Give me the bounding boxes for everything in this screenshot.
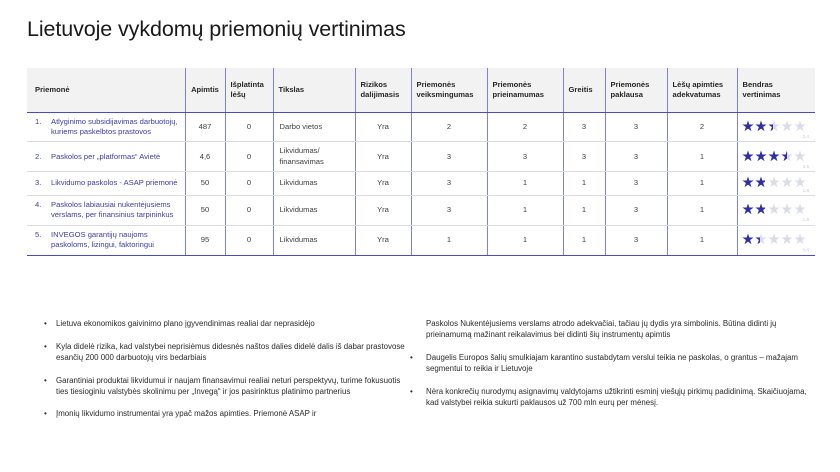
cell-veiksmingumas[interactable]: 1 — [411, 225, 487, 255]
cell-tikslas[interactable]: Likvidumas — [273, 195, 355, 225]
cell-paklausa[interactable]: 3 — [605, 195, 667, 225]
column-header[interactable]: Išplatinta lėšų — [225, 68, 273, 112]
slide-canvas: Lietuvoje vykdomų priemonių vertinimas P… — [0, 0, 840, 472]
bullet-item: •Kyla didelė rizika, kad valstybei nepri… — [38, 341, 410, 364]
cell-greitis[interactable]: 1 — [563, 172, 605, 196]
measure-index: 3. — [35, 178, 45, 188]
bullet-text: Daugelis Europos šalių smulkiajam karant… — [426, 352, 810, 375]
measure-name: Atlyginimo subsidijavimas darbuotojų, ku… — [51, 117, 181, 138]
cell-veiksmingumas[interactable]: 3 — [411, 195, 487, 225]
bullet-dot-icon: • — [38, 375, 56, 398]
cell-paklausa[interactable]: 3 — [605, 112, 667, 142]
bullet-item: •Paskolos Nukentėjusiems verslams atrodo… — [410, 318, 810, 341]
column-header[interactable]: Priemonės prieinamumas — [487, 68, 563, 112]
measure-name: Paskolos labiausiai nukentėjusiems versl… — [51, 200, 181, 221]
bullet-text: Garantiniai produktai likvidumui ir nauj… — [56, 375, 410, 398]
bullet-item: •Įmonių likvidumo instrumentai yra ypač … — [38, 408, 410, 420]
cell-adekvatumas[interactable]: 1 — [667, 225, 737, 255]
star-rating: ★★★★★★★★★★ — [742, 176, 807, 191]
star-rating-fill: ★★★★★ — [742, 150, 788, 165]
star-rating: ★★★★★★★★★★ — [742, 150, 807, 165]
bullet-item: •Nėra konkrečių nurodymų asignavimų vald… — [410, 386, 810, 409]
table-row[interactable]: 3.Likvidumo paskolos - ASAP priemonė500L… — [27, 172, 815, 196]
star-rating: ★★★★★★★★★★ — [742, 203, 807, 218]
table-row[interactable]: 4.Paskolos labiausiai nukentėjusiems ver… — [27, 195, 815, 225]
cell-veiksmingumas[interactable]: 3 — [411, 172, 487, 196]
cell-adekvatumas[interactable]: 2 — [667, 112, 737, 142]
bullet-dot-icon: • — [38, 341, 56, 364]
measure-name: Paskolos per „platformas“ Avietė — [51, 152, 160, 162]
star-rating-fill: ★★★★★ — [742, 120, 773, 135]
bullet-item: •Lietuva ekonomikos gaivinimo plano įgyv… — [38, 318, 410, 330]
cell-greitis[interactable]: 3 — [563, 142, 605, 172]
cell-isplatinta[interactable]: 0 — [225, 195, 273, 225]
cell-tikslas[interactable]: Likvidumas/ finansavimas — [273, 142, 355, 172]
column-header[interactable]: Lėšų apimties adekvatumas — [667, 68, 737, 112]
bullet-text: Įmonių likvidumo instrumentai yra ypač m… — [56, 408, 410, 420]
overall-rating-score: 1,8 — [803, 217, 809, 223]
cell-adekvatumas[interactable]: 1 — [667, 195, 737, 225]
overall-rating-cell[interactable]: ★★★★★★★★★★1,8 — [737, 172, 815, 196]
bullet-text: Nėra konkrečių nurodymų asignavimų valdy… — [426, 386, 810, 409]
overall-rating-score: 3,5 — [803, 164, 809, 170]
overall-rating-cell[interactable]: ★★★★★★★★★★1,4 — [737, 225, 815, 255]
table-body: 1.Atlyginimo subsidijavimas darbuotojų, … — [27, 112, 815, 255]
cell-rizikos-dalijimasis[interactable]: Yra — [355, 225, 411, 255]
measure-name: Likvidumo paskolos - ASAP priemonė — [51, 178, 178, 188]
column-header[interactable]: Apimtis — [185, 68, 225, 112]
column-header[interactable]: Greitis — [563, 68, 605, 112]
measure-cell[interactable]: 4.Paskolos labiausiai nukentėjusiems ver… — [27, 195, 185, 225]
column-header[interactable]: Priemonė — [27, 68, 185, 112]
cell-prieinamumas[interactable]: 3 — [487, 142, 563, 172]
measure-cell[interactable]: 1.Atlyginimo subsidijavimas darbuotojų, … — [27, 112, 185, 142]
column-header[interactable]: Bendras vertinimas — [737, 68, 815, 112]
cell-paklausa[interactable]: 3 — [605, 142, 667, 172]
star-rating-fill: ★★★★★ — [742, 176, 765, 191]
table-header-row: PriemonėApimtisIšplatinta lėšųTikslasRiz… — [27, 68, 815, 112]
cell-tikslas[interactable]: Likvidumas — [273, 225, 355, 255]
column-header[interactable]: Priemonės paklausa — [605, 68, 667, 112]
cell-prieinamumas[interactable]: 1 — [487, 195, 563, 225]
page-title: Lietuvoje vykdomų priemonių vertinimas — [27, 17, 406, 42]
star-rating: ★★★★★★★★★★ — [742, 233, 807, 248]
evaluation-table: PriemonėApimtisIšplatinta lėšųTikslasRiz… — [27, 68, 815, 256]
measure-index: 5. — [35, 230, 45, 251]
cell-greitis[interactable]: 1 — [563, 225, 605, 255]
cell-veiksmingumas[interactable]: 3 — [411, 142, 487, 172]
column-header[interactable]: Rizikos dalijimasis — [355, 68, 411, 112]
cell-tikslas[interactable]: Likvidumas — [273, 172, 355, 196]
cell-greitis[interactable]: 3 — [563, 112, 605, 142]
cell-rizikos-dalijimasis[interactable]: Yra — [355, 142, 411, 172]
bullet-item: •Garantiniai produktai likvidumui ir nau… — [38, 375, 410, 398]
cell-adekvatumas[interactable]: 1 — [667, 142, 737, 172]
cell-tikslas[interactable]: Darbo vietos — [273, 112, 355, 142]
overall-rating-score: 2,4 — [803, 134, 809, 140]
overall-rating-cell[interactable]: ★★★★★★★★★★2,4 — [737, 112, 815, 142]
measure-name: INVEGOS garantijų naujoms paskoloms, liz… — [51, 230, 181, 251]
overall-rating-cell[interactable]: ★★★★★★★★★★1,8 — [737, 195, 815, 225]
cell-veiksmingumas[interactable]: 2 — [411, 112, 487, 142]
cell-prieinamumas[interactable]: 1 — [487, 225, 563, 255]
cell-apimtis[interactable]: 95 — [185, 225, 225, 255]
cell-isplatinta[interactable]: 0 — [225, 225, 273, 255]
cell-prieinamumas[interactable]: 1 — [487, 172, 563, 196]
table-row[interactable]: 5.INVEGOS garantijų naujoms paskoloms, l… — [27, 225, 815, 255]
cell-isplatinta[interactable]: 0 — [225, 112, 273, 142]
cell-apimtis[interactable]: 50 — [185, 195, 225, 225]
notes-column-left: •Lietuva ekonomikos gaivinimo plano įgyv… — [38, 318, 410, 431]
measure-cell[interactable]: 2.Paskolos per „platformas“ Avietė — [27, 142, 185, 172]
cell-rizikos-dalijimasis[interactable]: Yra — [355, 172, 411, 196]
cell-apimtis[interactable]: 487 — [185, 112, 225, 142]
cell-apimtis[interactable]: 4,6 — [185, 142, 225, 172]
column-header[interactable]: Tikslas — [273, 68, 355, 112]
table-row[interactable]: 2.Paskolos per „platformas“ Avietė4,60Li… — [27, 142, 815, 172]
bullet-dot-icon: • — [38, 408, 56, 420]
table-row[interactable]: 1.Atlyginimo subsidijavimas darbuotojų, … — [27, 112, 815, 142]
bullet-dot-icon: • — [410, 352, 426, 375]
cell-rizikos-dalijimasis[interactable]: Yra — [355, 112, 411, 142]
cell-isplatinta[interactable]: 0 — [225, 142, 273, 172]
cell-paklausa[interactable]: 3 — [605, 172, 667, 196]
evaluation-table-container: PriemonėApimtisIšplatinta lėšųTikslasRiz… — [27, 68, 815, 256]
notes-column-right: •Paskolos Nukentėjusiems verslams atrodo… — [410, 318, 810, 420]
cell-isplatinta[interactable]: 0 — [225, 172, 273, 196]
measure-index: 1. — [35, 117, 45, 138]
bullet-text: Lietuva ekonomikos gaivinimo plano įgyve… — [56, 318, 410, 330]
bullet-text: Kyla didelė rizika, kad valstybei nepris… — [56, 341, 410, 364]
cell-rizikos-dalijimasis[interactable]: Yra — [355, 195, 411, 225]
column-header[interactable]: Priemonės veiksmingumas — [411, 68, 487, 112]
cell-greitis[interactable]: 1 — [563, 195, 605, 225]
overall-rating-score: 1,4 — [803, 247, 809, 253]
bullet-text: Paskolos Nukentėjusiems verslams atrodo … — [426, 318, 810, 341]
star-rating: ★★★★★★★★★★ — [742, 120, 807, 135]
bullet-dot-icon: • — [410, 386, 426, 409]
cell-adekvatumas[interactable]: 1 — [667, 172, 737, 196]
cell-apimtis[interactable]: 50 — [185, 172, 225, 196]
star-rating-fill: ★★★★★ — [742, 233, 760, 248]
overall-rating-score: 1,8 — [803, 188, 809, 194]
cell-paklausa[interactable]: 3 — [605, 225, 667, 255]
bullet-dot-icon: • — [38, 318, 56, 330]
measure-cell[interactable]: 5.INVEGOS garantijų naujoms paskoloms, l… — [27, 225, 185, 255]
measure-cell[interactable]: 3.Likvidumo paskolos - ASAP priemonė — [27, 172, 185, 196]
overall-rating-cell[interactable]: ★★★★★★★★★★3,5 — [737, 142, 815, 172]
star-rating-fill: ★★★★★ — [742, 203, 765, 218]
measure-index: 2. — [35, 152, 45, 162]
bullet-item: •Daugelis Europos šalių smulkiajam karan… — [410, 352, 810, 375]
measure-index: 4. — [35, 200, 45, 221]
cell-prieinamumas[interactable]: 2 — [487, 112, 563, 142]
